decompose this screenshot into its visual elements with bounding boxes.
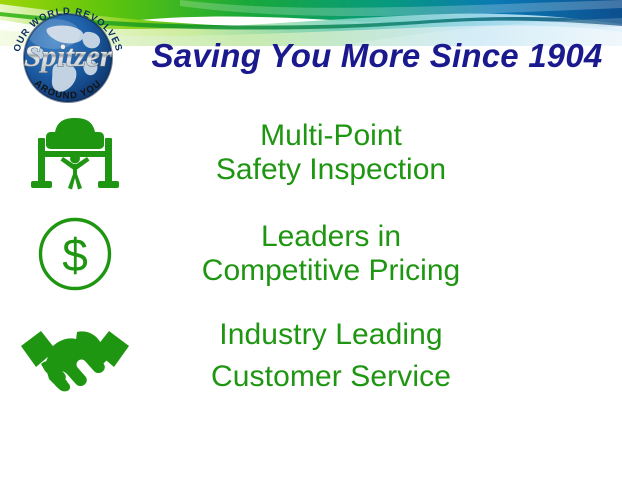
- feature-list: Multi-Point Safety Inspection $ Leaders …: [0, 104, 622, 406]
- feature-line-1: Multi-Point: [150, 119, 512, 153]
- spitzer-logo: OUR WORLD REVOLVES AROUND YOU Spitzer: [4, 2, 132, 114]
- spitzer-logo-graphic: OUR WORLD REVOLVES AROUND YOU Spitzer: [4, 2, 132, 114]
- svg-text:Spitzer: Spitzer: [24, 38, 113, 73]
- feature-line-1: Industry Leading: [150, 314, 512, 356]
- logo-wordmark: Spitzer: [24, 38, 113, 73]
- feature-row-safety-inspection: Multi-Point Safety Inspection: [0, 104, 622, 202]
- handshake-icon-graphic: [19, 320, 131, 392]
- dollar-circle-icon-graphic: $: [36, 215, 114, 293]
- feature-text-competitive-pricing: Leaders in Competitive Pricing: [150, 220, 622, 288]
- handshake-icon: [0, 320, 150, 392]
- dollar-circle-icon: $: [0, 215, 150, 293]
- feature-row-competitive-pricing: $ Leaders in Competitive Pricing: [0, 202, 622, 306]
- feature-line-2: Safety Inspection: [150, 153, 512, 187]
- feature-row-customer-service: Industry Leading Customer Service: [0, 306, 622, 406]
- feature-line-2: Customer Service: [150, 356, 512, 398]
- feature-text-safety-inspection: Multi-Point Safety Inspection: [150, 119, 622, 187]
- promotional-slide: OUR WORLD REVOLVES AROUND YOU Spitzer Sa…: [0, 0, 622, 483]
- svg-text:$: $: [62, 229, 88, 281]
- page-title: Saving You More Since 1904: [140, 37, 614, 75]
- feature-text-customer-service: Industry Leading Customer Service: [150, 314, 622, 398]
- car-lift-icon-graphic: [29, 110, 121, 196]
- car-lift-icon: [0, 110, 150, 196]
- feature-line-2: Competitive Pricing: [150, 254, 512, 288]
- feature-line-1: Leaders in: [150, 220, 512, 254]
